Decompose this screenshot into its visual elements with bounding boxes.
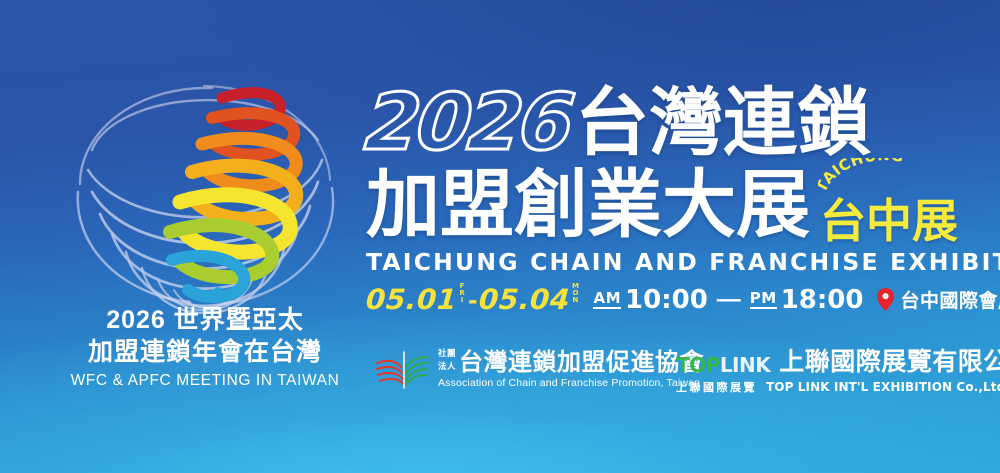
toplink-word-link: LINK <box>720 355 770 375</box>
exhibition-banner: 2026 世界暨亞太 加盟連鎖年會在台灣 WFC & APFC MEETING … <box>0 0 1000 473</box>
time-start: 10:00 <box>625 285 708 315</box>
toplink-row-2: 上聯國際展覽 TOP LINK INT'L EXHIBITION Co.,Ltd… <box>676 379 1000 395</box>
date-end-day: MON <box>571 282 578 303</box>
year-2026: 2026 <box>362 88 579 160</box>
toplink-row-1: TOP LINK 上聯國際展覽有限公司 <box>676 350 1000 375</box>
title-row-1: 2026 台灣連鎖 <box>366 76 966 160</box>
date-separator: - <box>468 284 477 316</box>
time-dash: — <box>717 286 741 314</box>
am-label: AM <box>593 290 621 309</box>
toplink-word-top: TOP <box>676 355 720 375</box>
toplink-name-cn-small: 上聯國際展覽 <box>676 379 757 395</box>
date-time-venue-row: 05.01 FRI - 05.04 MON AM 10:00 — PM 18:0… <box>366 283 966 316</box>
acfpt-prefix-line-2: 法人 <box>438 362 456 372</box>
caption-line-1: 2026 世界暨亞太 <box>40 304 370 336</box>
date-end: 05.04 <box>478 283 571 316</box>
taichung-badge: TAICHUNG 台中展 <box>814 164 946 242</box>
caption-line-2: 加盟連鎖年會在台灣 <box>40 336 370 368</box>
acfpt-prefix-line-1: 社團 <box>438 349 456 359</box>
left-logo-caption: 2026 世界暨亞太 加盟連鎖年會在台灣 WFC & APFC MEETING … <box>40 304 370 390</box>
acfpt-text-block: 社團 法人 台灣連鎖加盟促進協會 Association of Chain an… <box>438 349 704 388</box>
badge-chinese: 台中展 <box>820 198 958 244</box>
pm-label: PM <box>750 290 777 309</box>
time-range: AM 10:00 — PM 18:00 <box>593 285 863 315</box>
date-start-day: FRI <box>458 282 465 303</box>
acfpt-name-cn: 台灣連鎖加盟促進協會 <box>459 351 704 375</box>
title-line-1: 台灣連鎖 <box>575 87 871 160</box>
subtitle-english: TAICHUNG CHAIN AND FRANCHISE EXHIBITION <box>366 248 966 276</box>
venue-name: 台中國際會展中心 <box>900 286 1000 313</box>
acfpt-sponsor-logo: 社團 法人 台灣連鎖加盟促進協會 Association of Chain an… <box>374 348 704 390</box>
date-start: 05.01 <box>365 283 458 316</box>
globe-spiral-logo <box>62 52 348 314</box>
toplink-name-en: TOP LINK INT'L EXHIBITION Co.,Ltd. <box>766 380 1000 394</box>
acfpt-swoosh-icon <box>374 348 432 390</box>
acfpt-prefix: 社團 法人 <box>438 349 459 374</box>
time-end: 18:00 <box>781 285 864 315</box>
location-pin-icon <box>877 288 894 311</box>
toplink-name-cn: 上聯國際展覽有限公司 <box>779 350 1000 375</box>
venue-group: 台中國際會展中心 <box>877 286 1000 313</box>
acfpt-name-en: Association of Chain and Franchise Promo… <box>438 377 704 389</box>
caption-english: WFC & APFC MEETING IN TAIWAN <box>40 372 370 390</box>
taichung-arc-text: TAICHUNG <box>818 158 946 198</box>
svg-text:TAICHUNG: TAICHUNG <box>818 158 905 195</box>
toplink-sponsor-logo: TOP LINK 上聯國際展覽有限公司 上聯國際展覽 TOP LINK INT'… <box>676 350 1000 395</box>
title-row-2: 加盟創業大展 TAICHUNG 台中展 <box>366 162 966 242</box>
main-title-block: 2026 台灣連鎖 加盟創業大展 TAICHUNG 台中展 TAICHUNG C… <box>366 76 966 316</box>
acfpt-name-row: 社團 法人 台灣連鎖加盟促進協會 <box>438 349 704 374</box>
title-line-2: 加盟創業大展 <box>366 169 810 242</box>
